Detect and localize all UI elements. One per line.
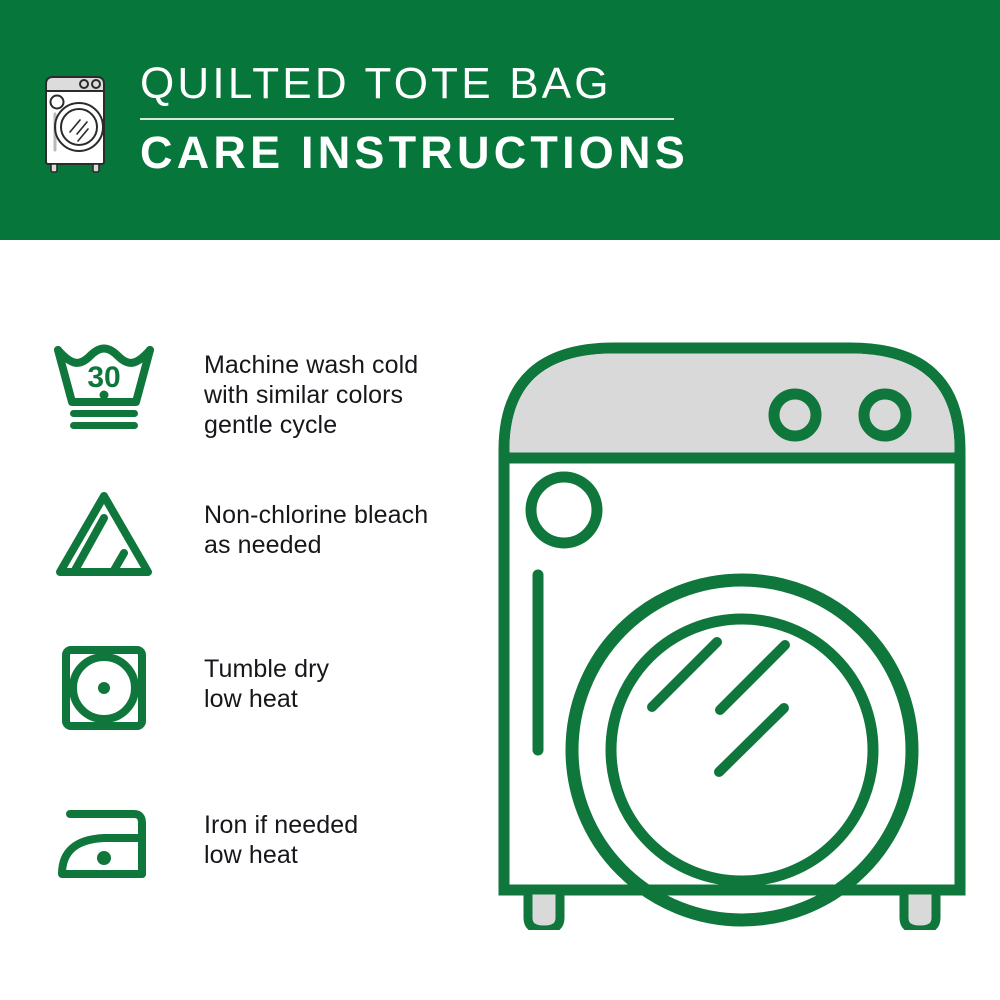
instruction-line: low heat bbox=[204, 840, 358, 870]
instruction-line: Machine wash cold bbox=[204, 350, 418, 380]
front-load-washing-machine-illustration bbox=[492, 330, 972, 930]
care-instruction-item-iron: Iron if needed low heat bbox=[48, 796, 468, 900]
wash-tub-30-gentle-icon: 30 bbox=[48, 336, 166, 432]
non-chlorine-bleach-triangle-icon bbox=[48, 486, 166, 582]
control-panel bbox=[510, 354, 955, 459]
page-title-secondary: CARE INSTRUCTIONS bbox=[140, 126, 689, 180]
care-instruction-text-tumble-dry: Tumble dry low heat bbox=[204, 640, 329, 714]
care-instruction-text-iron: Iron if needed low heat bbox=[204, 796, 358, 870]
instruction-line: as needed bbox=[204, 530, 428, 560]
washing-machine-icon bbox=[40, 64, 112, 176]
header-banner: QUILTED TOTE BAG CARE INSTRUCTIONS bbox=[0, 0, 1000, 240]
instruction-line: low heat bbox=[204, 684, 329, 714]
care-instruction-text-bleach: Non-chlorine bleach as needed bbox=[204, 486, 428, 560]
care-instruction-item-wash: 30 Machine wash cold with similar colors… bbox=[48, 336, 468, 440]
page-title-primary: QUILTED TOTE BAG bbox=[140, 58, 689, 110]
leg-left bbox=[528, 890, 560, 930]
instruction-line: Non-chlorine bleach bbox=[204, 500, 428, 530]
instruction-line: Tumble dry bbox=[204, 654, 329, 684]
care-instructions-page: QUILTED TOTE BAG CARE INSTRUCTIONS 30 bbox=[0, 0, 1000, 1000]
instruction-line: Iron if needed bbox=[204, 810, 358, 840]
care-instruction-item-bleach: Non-chlorine bleach as needed bbox=[48, 486, 468, 590]
wash-temperature-label: 30 bbox=[87, 361, 120, 394]
header-title-block: QUILTED TOTE BAG CARE INSTRUCTIONS bbox=[140, 58, 689, 180]
instruction-line: gentle cycle bbox=[204, 410, 418, 440]
iron-low-heat-icon bbox=[48, 796, 166, 892]
care-instruction-text-wash: Machine wash cold with similar colors ge… bbox=[204, 336, 418, 440]
instruction-line: with similar colors bbox=[204, 380, 418, 410]
tumble-dry-low-icon bbox=[48, 640, 166, 736]
care-instruction-list: 30 Machine wash cold with similar colors… bbox=[48, 336, 468, 900]
care-instruction-item-tumble-dry: Tumble dry low heat bbox=[48, 640, 468, 744]
title-divider bbox=[140, 118, 674, 120]
header-content: QUILTED TOTE BAG CARE INSTRUCTIONS bbox=[40, 58, 689, 180]
leg-right bbox=[904, 890, 936, 930]
